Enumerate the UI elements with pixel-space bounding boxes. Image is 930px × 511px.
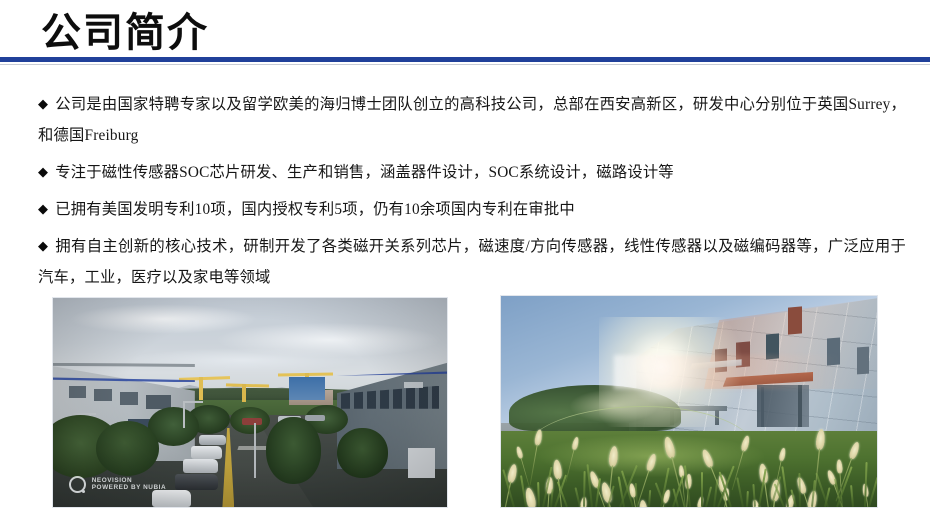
diamond-bullet-icon: ◆	[38, 201, 55, 216]
list-item: ◆专注于磁性传感器SOC芯片研发、生产和销售，涵盖器件设计，SOC系统设计，磁路…	[38, 156, 906, 188]
bullet-paragraph: ◆拥有自主创新的核心技术，研制开发了各类磁开关系列芯片，磁速度/方向传感器，线性…	[38, 230, 906, 293]
grass-blade	[701, 472, 703, 507]
bullet-paragraph: ◆公司是由国家特聘专家以及留学欧美的海归博士团队创立的高科技公司，总部在西安高新…	[38, 88, 906, 151]
watermark-line-2: POWERED BY NUBIA	[92, 484, 166, 492]
title-underline-secondary	[0, 64, 930, 65]
bullet-text: 已拥有美国发明专利10项，国内授权专利5项，仍有10余项国内专利在审批中	[55, 201, 575, 218]
canopy-post	[798, 385, 801, 427]
nubia-circle-logo-icon	[69, 476, 86, 493]
grass-blade	[798, 473, 801, 507]
list-item: ◆公司是由国家特聘专家以及留学欧美的海归博士团队创立的高科技公司，总部在西安高新…	[38, 88, 906, 151]
company-building-exterior-photo	[500, 295, 878, 508]
bullet-text: 公司是由国家特聘专家以及留学欧美的海归博士团队创立的高科技公司，总部在西安高新区…	[38, 96, 906, 144]
window	[857, 346, 869, 374]
slide-header: 公司简介	[0, 0, 930, 66]
watermark-line-1: NEOVISION	[92, 477, 166, 485]
bullet-text: 拥有自主创新的核心技术，研制开发了各类磁开关系列芯片，磁速度/方向传感器，线性传…	[38, 238, 906, 286]
lens-flare-streak	[614, 355, 840, 389]
window	[788, 306, 802, 335]
list-item: ◆已拥有美国发明专利10项，国内授权专利5项，仍有10余项国内专利在审批中	[38, 193, 906, 225]
grass-blade	[583, 471, 586, 507]
list-item: ◆拥有自主创新的核心技术，研制开发了各类磁开关系列芯片，磁速度/方向传感器，线性…	[38, 230, 906, 293]
diamond-bullet-icon: ◆	[38, 238, 55, 253]
slide-company-introduction: 公司简介 ◆公司是由国家特聘专家以及留学欧美的海归博士团队创立的高科技公司，总部…	[0, 0, 930, 511]
diamond-bullet-icon: ◆	[38, 96, 55, 111]
page-title: 公司简介	[41, 9, 209, 57]
bullet-list: ◆公司是由国家特聘专家以及留学欧美的海归博士团队创立的高科技公司，总部在西安高新…	[38, 88, 906, 298]
foxtail-seedhead	[836, 460, 843, 474]
bullet-paragraph: ◆已拥有美国发明专利10项，国内授权专利5项，仍有10余项国内专利在审批中	[38, 193, 906, 225]
title-underline-accent	[0, 57, 930, 62]
diamond-bullet-icon: ◆	[38, 164, 55, 179]
bullet-paragraph: ◆专注于磁性传感器SOC芯片研发、生产和销售，涵盖器件设计，SOC系统设计，磁路…	[38, 156, 906, 188]
canopy-post	[761, 387, 764, 427]
company-campus-photo: NEOVISION POWERED BY NUBIA	[52, 297, 448, 508]
watermark-text: NEOVISION POWERED BY NUBIA	[92, 477, 166, 492]
bullet-text: 专注于磁性传感器SOC芯片研发、生产和销售，涵盖器件设计，SOC系统设计，磁路设…	[55, 164, 674, 181]
photo-watermark: NEOVISION POWERED BY NUBIA	[69, 476, 166, 493]
